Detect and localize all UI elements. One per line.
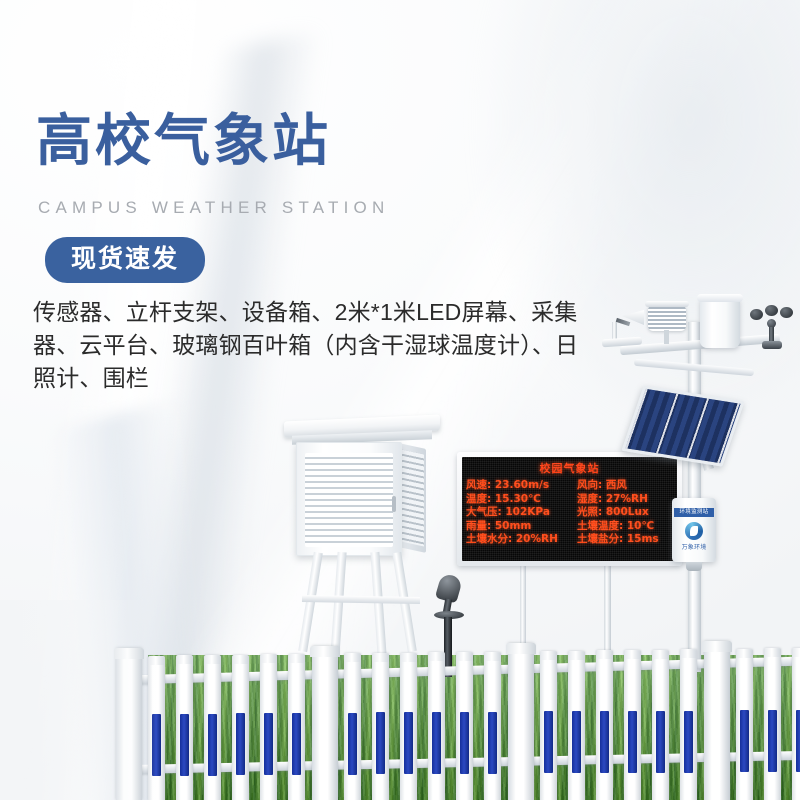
fence-picket (624, 650, 641, 800)
led-reading-left: 土壤水分: 20%RH (466, 533, 570, 547)
led-reading-row: 雨量: 50mm土壤温度: 10℃ (466, 520, 673, 534)
fence-picket-stripe (292, 713, 301, 775)
fence-picket-stripe (180, 714, 189, 776)
mast-pole (688, 322, 701, 672)
fence-picket (204, 655, 221, 800)
fence-picket-stripe (264, 713, 273, 775)
led-reading-right: 光照: 800Lux (577, 506, 673, 520)
vane-stem (616, 318, 631, 326)
stevenson-screen (296, 418, 426, 558)
fence-picket (372, 653, 389, 800)
equipment-box-label: 环境监测站 (674, 508, 714, 517)
anemometer-cup (780, 307, 793, 318)
foreground-haze (0, 600, 160, 800)
fence-picket (456, 652, 473, 800)
screen-side-panel (399, 443, 426, 553)
fence-picket-stripe (376, 712, 385, 774)
led-display-panel: 校园气象站 风速: 23.60m/s风向: 西风温度: 15.30℃湿度: 27… (457, 452, 682, 566)
fence-picket-stripe (796, 710, 800, 772)
led-reading-row: 大气压: 102KPa光照: 800Lux (466, 506, 673, 520)
led-reading-row: 温度: 15.30℃湿度: 27%RH (466, 493, 673, 507)
fence-post (704, 641, 730, 800)
fence-picket (400, 653, 417, 800)
fence-post (508, 643, 534, 800)
anemometer-base (762, 341, 782, 349)
equipment-box: 环境监测站 万象环境 (672, 498, 716, 562)
fence-picket (344, 653, 361, 800)
product-description: 传感器、立杆支架、设备箱、2米*1米LED屏幕、采集器、云平台、玻璃钢百叶箱（内… (33, 296, 593, 395)
equipment-box-foot (686, 562, 702, 571)
fence-picket (652, 650, 669, 800)
led-reading-right: 风向: 西风 (577, 479, 673, 493)
fence-picket-stripe (656, 711, 665, 773)
fence-picket (176, 655, 193, 800)
fence-picket-stripe (236, 713, 245, 775)
led-reading-right: 土壤温度: 10℃ (577, 520, 673, 534)
screen-body (296, 442, 402, 556)
fence-picket (484, 652, 501, 800)
fence-picket-stripe (348, 713, 357, 775)
vane-post (612, 322, 617, 340)
led-reading-right: 土壤盐分: 15ms (577, 533, 673, 547)
fence-picket (260, 654, 277, 800)
led-screen: 校园气象站 风速: 23.60m/s风向: 西风温度: 15.30℃湿度: 27… (462, 457, 677, 561)
brand-logo-icon (685, 522, 703, 540)
page-subtitle: CAMPUS WEATHER STATION (38, 198, 389, 218)
fence-picket (764, 648, 781, 800)
fence-picket-stripe (544, 711, 553, 773)
fence-picket-stripe (768, 710, 777, 772)
fence-picket-stripe (460, 712, 469, 774)
fence-picket-stripe (740, 710, 749, 772)
led-reading-row: 土壤水分: 20%RH土壤盐分: 15ms (466, 533, 673, 547)
status-badge: 现货速发 (45, 237, 205, 283)
page-title: 高校气象站 (36, 113, 331, 169)
led-reading-left: 大气压: 102KPa (466, 506, 570, 520)
radiation-shield-icon (648, 305, 686, 331)
led-reading-right: 湿度: 27%RH (577, 493, 673, 507)
screen-side-louvers (401, 450, 424, 547)
anemometer-icon (750, 305, 794, 339)
anemometer-cup (765, 305, 778, 316)
radiation-shield-stem (664, 330, 669, 344)
wind-vane-icon (610, 310, 646, 338)
fence-picket-stripe (404, 712, 413, 774)
product-banner: 高校气象站 CAMPUS WEATHER STATION 现货速发 传感器、立杆… (0, 0, 800, 800)
led-reading-left: 风速: 23.60m/s (466, 479, 570, 493)
rain-gauge-icon (700, 298, 740, 348)
stand-crossbar (302, 595, 420, 604)
fence (120, 640, 800, 800)
led-reading-row: 风速: 23.60m/s风向: 西风 (466, 479, 673, 493)
led-readings: 风速: 23.60m/s风向: 西风温度: 15.30℃湿度: 27%RH大气压… (462, 479, 677, 547)
fence-picket (792, 648, 800, 800)
equipment-box-brand: 万象环境 (672, 542, 716, 551)
led-reading-left: 雨量: 50mm (466, 520, 570, 534)
fence-picket-stripe (628, 711, 637, 773)
fence-picket-stripe (572, 711, 581, 773)
fence-picket (540, 651, 557, 800)
fence-post (312, 646, 338, 800)
fence-picket-stripe (488, 712, 497, 774)
fence-picket (428, 652, 445, 800)
anemometer-cup (750, 309, 763, 320)
fence-picket (232, 655, 249, 800)
fence-picket (680, 649, 697, 800)
screen-latch-icon (392, 496, 396, 512)
led-reading-left: 温度: 15.30℃ (466, 493, 570, 507)
fence-picket-stripe (600, 711, 609, 773)
fence-picket-stripe (208, 714, 217, 776)
background-swoosh-4 (430, 0, 800, 500)
fence-picket-stripe (684, 711, 693, 773)
led-title: 校园气象站 (462, 460, 677, 476)
fence-picket-stripe (432, 712, 441, 774)
fence-picket (596, 650, 613, 800)
fence-picket (568, 651, 585, 800)
fence-picket (288, 654, 305, 800)
screen-front-louvers (305, 453, 393, 547)
fence-picket (736, 649, 753, 800)
